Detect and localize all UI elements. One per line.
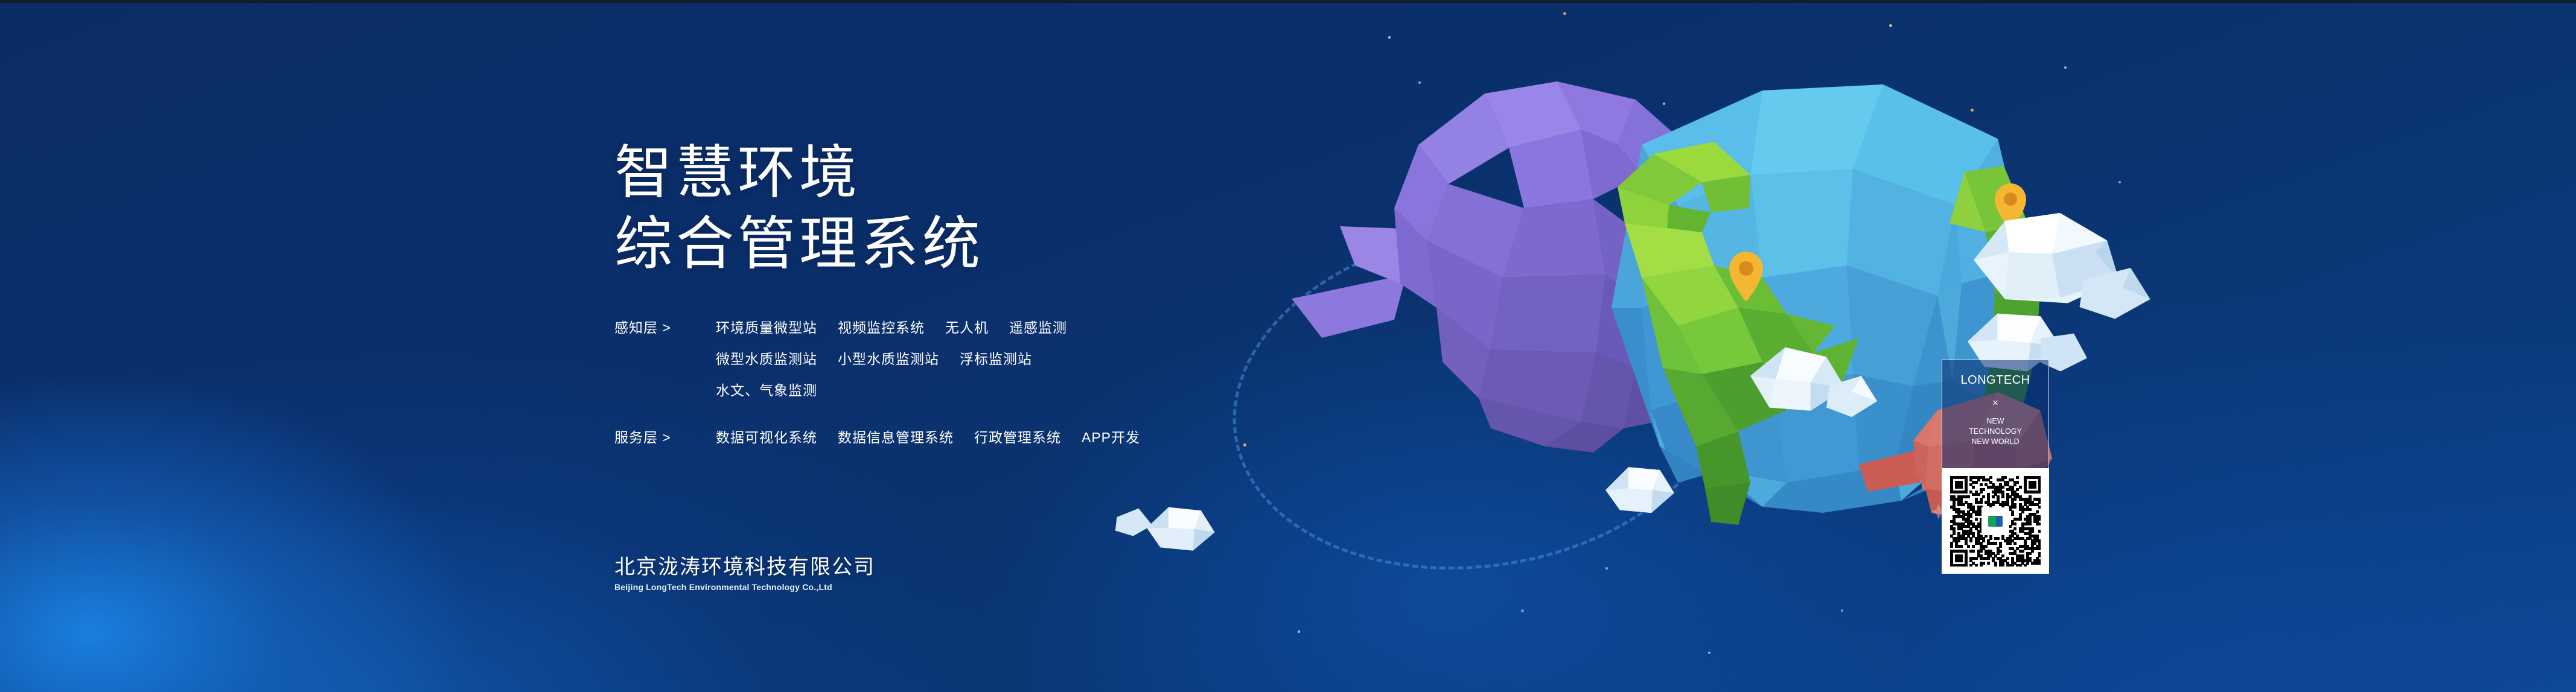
qr-card-header: LONGTECH × NEW TECHNOLOGY NEW WORLD xyxy=(1942,360,2049,468)
layer-item[interactable]: 遥感监测 xyxy=(1009,317,1067,338)
star-dot xyxy=(1298,630,1300,633)
tagline-line-2: TECHNOLOGY xyxy=(1969,427,2022,437)
layer-item-line: 水文、气象监测 xyxy=(716,380,1067,401)
page-title-line-2: 综合管理系统 xyxy=(614,209,1278,280)
layer-item[interactable]: 环境质量微型站 xyxy=(716,317,817,338)
layer-label: 服务层 > xyxy=(614,427,716,448)
company-name-cn: 北京泷涛环境科技有限公司 xyxy=(614,555,875,579)
brand-tagline: NEW TECHNOLOGY NEW WORLD xyxy=(1969,416,2022,447)
star-dot xyxy=(2119,181,2121,183)
layer-item[interactable]: 浮标监测站 xyxy=(960,349,1032,369)
tagline-line-3: NEW WORLD xyxy=(1969,437,2022,447)
hero-copy: 智慧环境 综合管理系统 感知层 >环境质量微型站视频监控系统无人机遥感监测微型水… xyxy=(614,138,1278,448)
company-name-en: Beijing LongTech Environmental Technolog… xyxy=(614,581,875,593)
layer-item-line: 环境质量微型站视频监控系统无人机遥感监测 xyxy=(716,317,1067,338)
qr-code-area[interactable] xyxy=(1942,468,2049,574)
layer-item[interactable]: 小型水质监测站 xyxy=(838,349,939,369)
layer-item[interactable]: APP开发 xyxy=(1082,427,1140,448)
layer-label: 感知层 > xyxy=(614,317,716,338)
layer-item[interactable]: 行政管理系统 xyxy=(974,427,1061,448)
layer-item-line: 微型水质监测站小型水质监测站浮标监测站 xyxy=(716,349,1067,369)
star-dot xyxy=(1563,12,1566,15)
layer-item[interactable]: 无人机 xyxy=(945,317,989,338)
layer-items: 环境质量微型站视频监控系统无人机遥感监测微型水质监测站小型水质监测站浮标监测站水… xyxy=(716,317,1067,401)
hero-banner: 智慧环境 综合管理系统 感知层 >环境质量微型站视频监控系统无人机遥感监测微型水… xyxy=(0,0,2576,692)
qr-center-logo-icon xyxy=(1985,510,2006,532)
layer-item[interactable]: 微型水质监测站 xyxy=(716,349,817,369)
star-dot xyxy=(1708,652,1710,654)
layer-list: 感知层 >环境质量微型站视频监控系统无人机遥感监测微型水质监测站小型水质监测站浮… xyxy=(614,317,1278,448)
layer-item-line: 数据可视化系统数据信息管理系统行政管理系统APP开发 xyxy=(716,427,1140,448)
top-strip xyxy=(0,0,2576,3)
layer-items: 数据可视化系统数据信息管理系统行政管理系统APP开发 xyxy=(716,427,1140,448)
company-block: 北京泷涛环境科技有限公司 Beijing LongTech Environmen… xyxy=(614,555,875,593)
qr-promo-card[interactable]: LONGTECH × NEW TECHNOLOGY NEW WORLD xyxy=(1942,360,2049,574)
layer-item[interactable]: 视频监控系统 xyxy=(838,317,925,338)
layer-row: 服务层 >数据可视化系统数据信息管理系统行政管理系统APP开发 xyxy=(614,427,1278,448)
page-title-line-1: 智慧环境 xyxy=(614,138,1278,209)
cross-separator-icon: × xyxy=(1992,397,1998,409)
layer-row: 感知层 >环境质量微型站视频监控系统无人机遥感监测微型水质监测站小型水质监测站浮… xyxy=(614,317,1278,401)
layer-item[interactable]: 水文、气象监测 xyxy=(716,380,817,401)
tagline-line-1: NEW xyxy=(1969,416,2022,427)
layer-item[interactable]: 数据可视化系统 xyxy=(716,427,817,448)
wechat-qr-code[interactable] xyxy=(1950,476,2041,567)
low-poly-clouds xyxy=(1115,507,1215,551)
brand-name: LONGTECH xyxy=(1960,373,2030,387)
layer-item[interactable]: 数据信息管理系统 xyxy=(838,427,954,448)
